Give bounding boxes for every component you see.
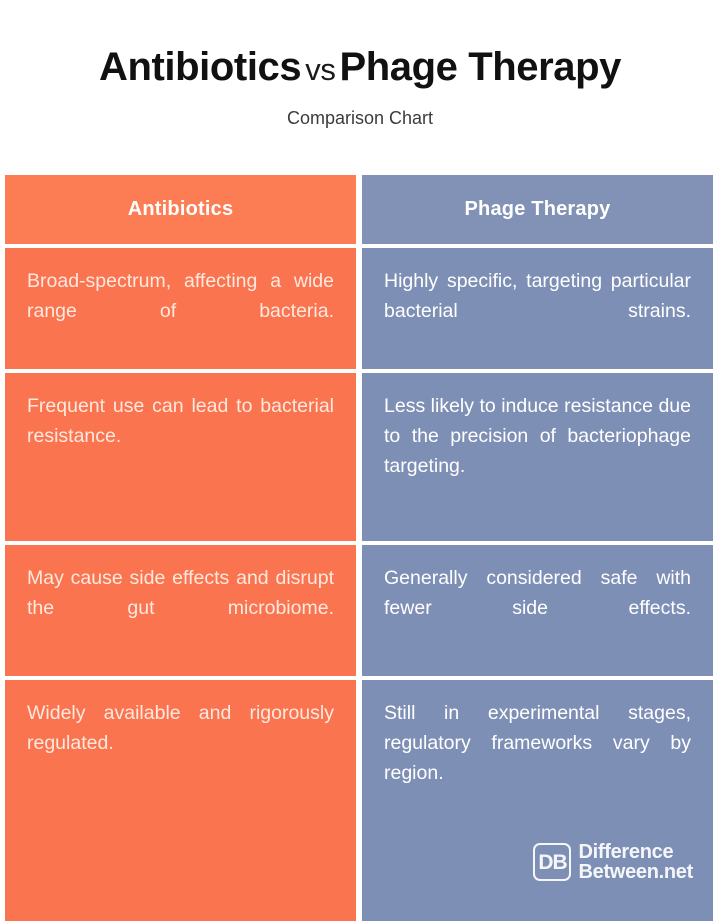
- watermark-logo: DB Difference Between.net: [533, 842, 693, 883]
- comparison-table: Antibiotics Phage Therapy Broad-spectrum…: [5, 175, 713, 919]
- column-header-label: Phage Therapy: [465, 198, 611, 221]
- column-header-phage-therapy: Phage Therapy: [362, 175, 713, 244]
- watermark-line-1: Difference: [578, 842, 693, 863]
- table-cell-antibiotics: Widely available and rigorously regulate…: [5, 680, 356, 921]
- comparison-chart-page: AntibioticsvsPhage Therapy Comparison Ch…: [0, 0, 720, 919]
- column-header-label: Antibiotics: [128, 198, 234, 221]
- table-header-row: Antibiotics Phage Therapy: [5, 175, 713, 244]
- table-row: May cause side effects and disrupt the g…: [5, 545, 713, 676]
- column-header-antibiotics: Antibiotics: [5, 175, 356, 244]
- table-cell-phage-therapy: Highly specific, targeting particular ba…: [362, 248, 713, 369]
- page-title: AntibioticsvsPhage Therapy: [0, 44, 720, 93]
- watermark-line-2: Between.net: [578, 862, 693, 883]
- cell-text: Still in experimental stages, regulatory…: [384, 698, 691, 818]
- table-row: Broad-spectrum, affecting a wide range o…: [5, 248, 713, 369]
- table-cell-antibiotics: Frequent use can lead to bacterial resis…: [5, 373, 356, 541]
- table-cell-phage-therapy: Still in experimental stages, regulatory…: [362, 680, 713, 921]
- cell-text: Broad-spectrum, affecting a wide range o…: [27, 266, 334, 356]
- cell-text: Less likely to induce resistance due to …: [384, 391, 691, 511]
- cell-text: Widely available and rigorously regulate…: [27, 698, 334, 788]
- cell-text: Frequent use can lead to bacterial resis…: [27, 391, 334, 451]
- table-cell-antibiotics: May cause side effects and disrupt the g…: [5, 545, 356, 676]
- watermark-wordmark: Difference Between.net: [578, 842, 693, 883]
- db-logo-icon: DB: [533, 843, 571, 881]
- db-logo-text: DB: [538, 852, 566, 873]
- page-subtitle: Comparison Chart: [0, 107, 720, 129]
- title-subject-left: Antibiotics: [99, 45, 301, 89]
- cell-text: Generally considered safe with fewer sid…: [384, 563, 691, 653]
- table-row: Widely available and rigorously regulate…: [5, 680, 713, 921]
- title-subject-right: Phage Therapy: [339, 45, 621, 89]
- table-cell-antibiotics: Broad-spectrum, affecting a wide range o…: [5, 248, 356, 369]
- table-row: Frequent use can lead to bacterial resis…: [5, 373, 713, 541]
- cell-text: Highly specific, targeting particular ba…: [384, 266, 691, 356]
- table-cell-phage-therapy: Generally considered safe with fewer sid…: [362, 545, 713, 676]
- chart-header: AntibioticsvsPhage Therapy Comparison Ch…: [0, 0, 720, 129]
- title-versus: vs: [301, 52, 339, 87]
- table-cell-phage-therapy: Less likely to induce resistance due to …: [362, 373, 713, 541]
- cell-text: May cause side effects and disrupt the g…: [27, 563, 334, 653]
